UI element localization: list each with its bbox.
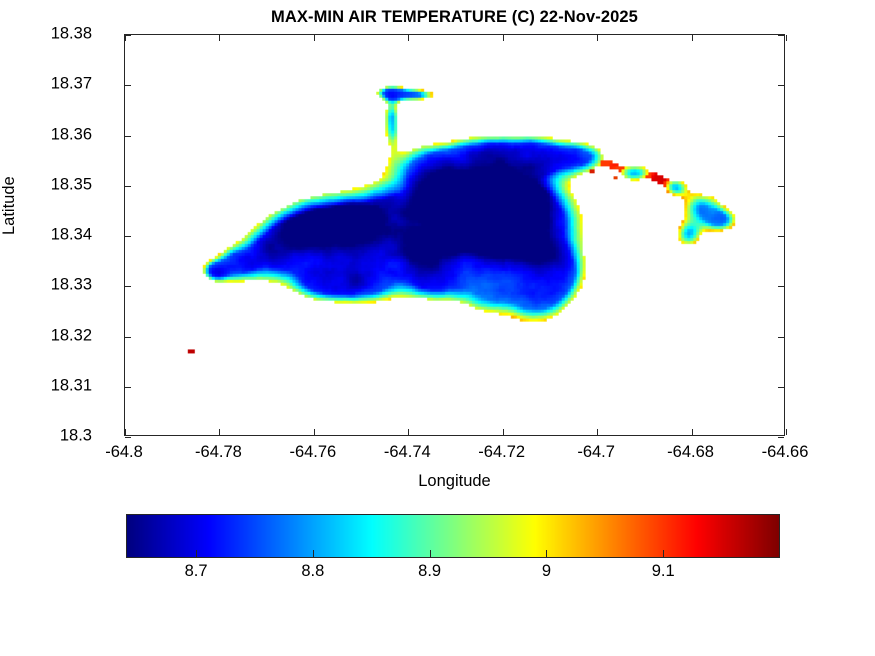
figure-canvas: MAX-MIN AIR TEMPERATURE (C) 22-Nov-2025 … xyxy=(0,0,875,656)
colorbar-tick-label: 8.8 xyxy=(301,562,324,581)
y-tick-mark xyxy=(125,186,131,187)
x-tick-label: -64.76 xyxy=(289,443,336,462)
x-tick-label: -64.66 xyxy=(762,443,809,462)
x-axis-label: Longitude xyxy=(124,472,785,491)
y-tick-label: 18.35 xyxy=(51,175,92,194)
y-tick-mark xyxy=(125,286,131,287)
x-tick-mark-top xyxy=(503,35,504,41)
y-tick-label: 18.36 xyxy=(51,125,92,144)
y-tick-mark-right xyxy=(778,286,784,287)
x-tick-label: -64.72 xyxy=(478,443,525,462)
x-tick-mark-top xyxy=(597,35,598,41)
x-tick-label: -64.8 xyxy=(105,443,143,462)
y-tick-mark-right xyxy=(778,35,784,36)
y-tick-mark-right xyxy=(778,437,784,438)
colorbar-tick-label: 9 xyxy=(542,562,551,581)
y-tick-mark xyxy=(125,136,131,137)
y-tick-label: 18.33 xyxy=(51,276,92,295)
x-tick-label: -64.68 xyxy=(667,443,714,462)
x-tick-mark-top xyxy=(125,35,126,41)
y-tick-mark-right xyxy=(778,236,784,237)
page-title: MAX-MIN AIR TEMPERATURE (C) 22-Nov-2025 xyxy=(124,8,785,27)
y-tick-label: 18.3 xyxy=(60,427,92,446)
colorbar-tick-mark xyxy=(546,550,547,557)
map-axes xyxy=(124,34,785,436)
y-tick-label: 18.37 xyxy=(51,75,92,94)
map-plot-area xyxy=(125,35,784,435)
colorbar-tick-mark xyxy=(313,550,314,557)
y-tick-mark-right xyxy=(778,337,784,338)
colorbar xyxy=(126,514,780,558)
colorbar-tick-label: 8.9 xyxy=(418,562,441,581)
x-tick-mark xyxy=(219,429,220,435)
x-tick-mark xyxy=(597,429,598,435)
x-tick-mark xyxy=(314,429,315,435)
colorbar-tick-label: 9.1 xyxy=(652,562,675,581)
colorbar-gradient xyxy=(126,514,780,558)
y-tick-mark-right xyxy=(778,85,784,86)
x-tick-label: -64.74 xyxy=(384,443,431,462)
y-tick-mark xyxy=(125,437,131,438)
colorbar-tick-label: 8.7 xyxy=(185,562,208,581)
y-tick-label: 18.31 xyxy=(51,376,92,395)
x-tick-label: -64.7 xyxy=(577,443,615,462)
y-tick-label: 18.34 xyxy=(51,226,92,245)
x-tick-mark-top xyxy=(692,35,693,41)
x-tick-mark xyxy=(125,429,126,435)
x-tick-mark xyxy=(503,429,504,435)
y-tick-label: 18.32 xyxy=(51,326,92,345)
colorbar-tick-mark xyxy=(196,550,197,557)
y-tick-mark xyxy=(125,337,131,338)
x-tick-mark xyxy=(692,429,693,435)
y-axis-label: Latitude xyxy=(0,176,19,235)
colorbar-tick-mark xyxy=(430,550,431,557)
y-tick-mark-right xyxy=(778,186,784,187)
temperature-heatmap xyxy=(125,35,784,435)
x-tick-mark xyxy=(786,429,787,435)
x-tick-mark xyxy=(408,429,409,435)
y-tick-mark-right xyxy=(778,136,784,137)
x-tick-mark-top xyxy=(219,35,220,41)
x-tick-mark-top xyxy=(786,35,787,41)
x-tick-mark-top xyxy=(314,35,315,41)
y-tick-mark xyxy=(125,85,131,86)
x-tick-mark-top xyxy=(408,35,409,41)
colorbar-tick-mark xyxy=(663,550,664,557)
y-tick-label: 18.38 xyxy=(51,25,92,44)
y-tick-mark-right xyxy=(778,387,784,388)
y-tick-mark xyxy=(125,236,131,237)
x-tick-label: -64.78 xyxy=(195,443,242,462)
y-tick-mark xyxy=(125,387,131,388)
